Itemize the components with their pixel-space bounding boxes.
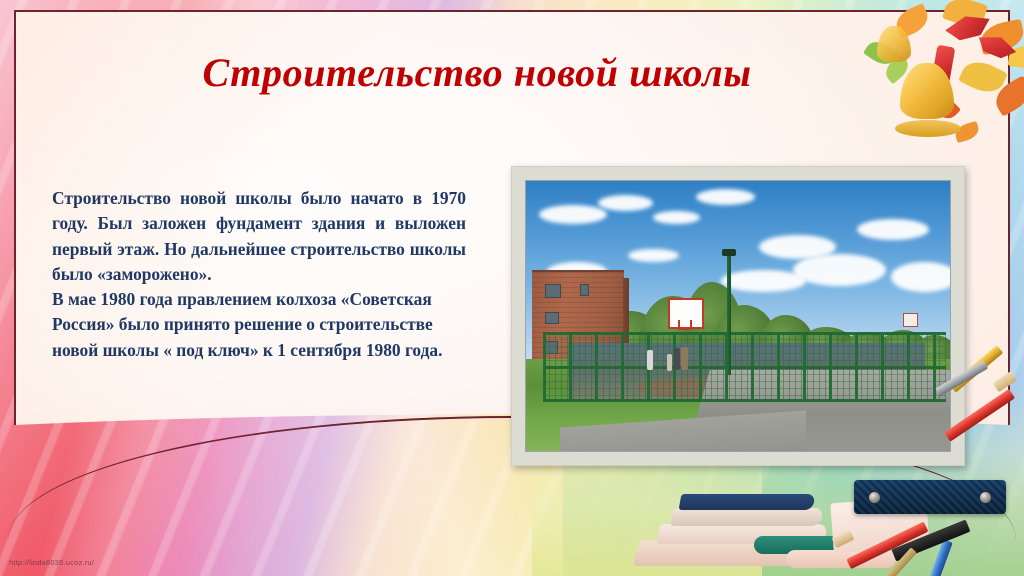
cloud bbox=[539, 205, 607, 224]
basketball-backboard-far bbox=[903, 313, 917, 327]
body-text-block: Строительство новой школы было начато в … bbox=[52, 186, 466, 363]
person bbox=[674, 348, 680, 370]
cloud bbox=[628, 249, 679, 263]
building-window bbox=[545, 284, 560, 298]
body-paragraph-2: В мае 1980 года правлением колхоза «Сове… bbox=[52, 287, 466, 363]
body-paragraph-1: Строительство новой школы было начато в … bbox=[52, 186, 466, 287]
cloud bbox=[653, 211, 700, 225]
basketball-hoop bbox=[678, 320, 692, 330]
person bbox=[667, 354, 672, 372]
watermark: http://linda6035.ucoz.ru/ bbox=[9, 558, 94, 567]
building-window bbox=[545, 312, 559, 324]
green-fence bbox=[543, 332, 946, 402]
flood-light bbox=[722, 249, 736, 256]
cloud bbox=[857, 219, 929, 241]
fence-rail-bottom bbox=[543, 399, 946, 402]
fence-rail-top bbox=[543, 332, 946, 335]
cloud bbox=[598, 195, 653, 211]
person bbox=[647, 350, 653, 370]
page-title: Строительство новой школы bbox=[0, 48, 1024, 98]
cloud bbox=[891, 262, 951, 292]
photo-frame bbox=[511, 166, 965, 466]
photo-sports-ground bbox=[525, 180, 951, 452]
building-window bbox=[580, 284, 589, 295]
light-pole bbox=[727, 251, 731, 375]
fence-rail-mid bbox=[543, 366, 946, 369]
person bbox=[681, 347, 687, 370]
slide-canvas: Строительство новой школы Строительство … bbox=[0, 0, 1024, 576]
